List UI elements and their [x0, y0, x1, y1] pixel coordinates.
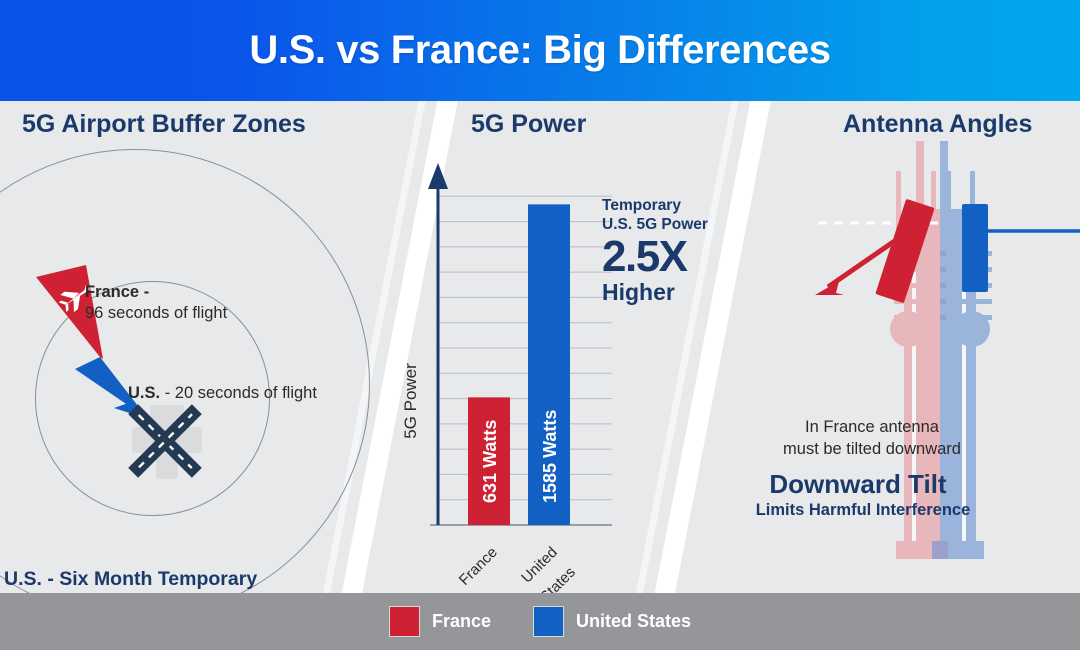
page-title: U.S. vs France: Big Differences [249, 28, 830, 73]
france-buffer-label: France - [85, 283, 149, 302]
panel-5g-power: 5G Power 631 Watts 1585 Watts 5G Power F… [380, 101, 700, 593]
bar-value-united-states: 1585 Watts [540, 410, 560, 503]
panel-airport-buffer-zones: 5G Airport Buffer Zones [0, 101, 380, 593]
antenna-note: In France antenna must be tilted downwar… [742, 416, 1002, 460]
us-buffer-value: - 20 seconds of flight [165, 384, 317, 402]
x-tick-label-france: France [456, 544, 501, 589]
panel-antenna-angles: Antenna Angles [700, 101, 1080, 593]
us-buffer-label-text: U.S. [128, 384, 160, 402]
antenna-headline: Downward Tilt [718, 469, 998, 500]
legend-label-france: France [432, 611, 491, 632]
infographic-root: U.S. vs France: Big Differences 5G Airpo… [0, 0, 1080, 650]
bar-chart: 631 Watts 1585 Watts 5G Power France Uni… [380, 101, 700, 593]
airport-runway-icon [110, 393, 220, 493]
header-banner: U.S. vs France: Big Differences [0, 0, 1080, 101]
left-footer-navy: U.S. - Six Month Temporary (50 Airports) [4, 567, 257, 593]
legend-label-united-states: United States [576, 611, 691, 632]
antenna-subline: Limits Harmful Interference [718, 501, 1008, 520]
legend-item-france: France [389, 606, 491, 637]
chart-gridlines [438, 196, 612, 499]
legend-item-united-states: United States [533, 606, 691, 637]
us-buffer-label: U.S. - 20 seconds of flight [128, 384, 317, 403]
y-axis-label: 5G Power [401, 363, 420, 439]
panel-left-title: 5G Airport Buffer Zones [22, 110, 306, 139]
legend-swatch-france [389, 606, 420, 637]
bar-value-france: 631 Watts [480, 420, 500, 503]
y-axis-arrow [428, 163, 448, 189]
france-buffer-value: 96 seconds of flight [85, 304, 227, 323]
panels-board: 5G Airport Buffer Zones [0, 101, 1080, 593]
us-antenna-panel [962, 204, 988, 292]
legend-bar: France United States [0, 593, 1080, 650]
legend-swatch-united-states [533, 606, 564, 637]
